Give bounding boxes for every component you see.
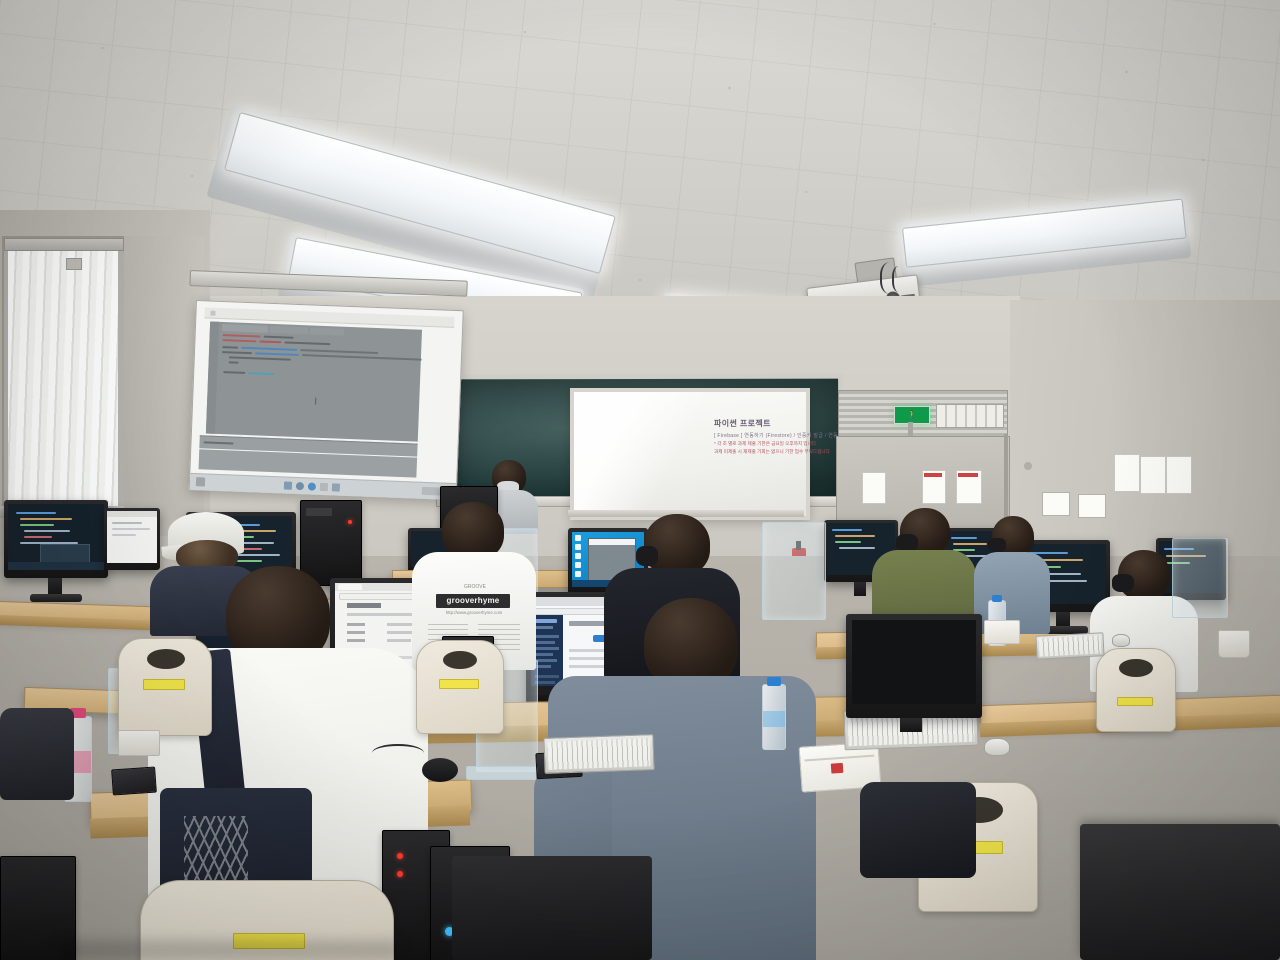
admin-nav-item[interactable] bbox=[535, 681, 555, 684]
code-line-2b bbox=[259, 340, 281, 343]
code-line-6 bbox=[229, 361, 239, 363]
water-bottle-right-cap bbox=[992, 595, 1002, 602]
smartphone-left[interactable] bbox=[111, 766, 157, 795]
vertical-blinds bbox=[8, 248, 118, 506]
student-black-mask bbox=[636, 546, 658, 566]
desktop-icon-3[interactable] bbox=[575, 553, 581, 559]
monitor-far-left-taskbar bbox=[8, 562, 104, 570]
blind-rail bbox=[4, 238, 124, 251]
monitor-left-2[interactable] bbox=[104, 508, 160, 570]
projector-cable-2 bbox=[892, 266, 908, 292]
code-line-3b bbox=[241, 347, 297, 351]
taskbar-start-icon[interactable] bbox=[196, 477, 205, 486]
door-notice-3-header bbox=[958, 473, 978, 477]
whiteboard-writing: 파이썬 프로젝트 [ Firebase ] 연동하기 (Firestore) /… bbox=[714, 418, 804, 455]
wall-certificate-1 bbox=[1042, 492, 1070, 516]
paper-bag-logo bbox=[831, 763, 844, 774]
monitor-far-left-base bbox=[30, 594, 82, 602]
admin-logo bbox=[535, 619, 557, 623]
wall-notice-2 bbox=[1140, 456, 1166, 494]
desktop-window-titlebar bbox=[589, 539, 635, 545]
backpack bbox=[0, 708, 74, 800]
door-notice-1 bbox=[862, 472, 886, 504]
browser-chrome bbox=[107, 511, 157, 517]
web-tab[interactable] bbox=[338, 584, 362, 590]
code-line-1b bbox=[264, 336, 294, 339]
tissue-box bbox=[118, 730, 160, 756]
whiteboard-line-1: [ Firebase ] 연동하기 (Firestore) / 인증키 발급 /… bbox=[714, 432, 804, 439]
web-tabs-row[interactable] bbox=[347, 613, 421, 616]
web-field-label bbox=[347, 639, 365, 642]
web-ln bbox=[112, 534, 136, 536]
admin-page-title bbox=[569, 621, 605, 626]
shirt-print-brand-text: grooverhyme bbox=[438, 596, 508, 605]
wall-notice-3 bbox=[1166, 456, 1192, 494]
mouse-right[interactable] bbox=[1112, 634, 1130, 647]
monitor-left-2-screen bbox=[107, 511, 157, 563]
desktop-icon-5[interactable] bbox=[575, 571, 581, 577]
code-ln bbox=[20, 524, 54, 526]
web-field-value bbox=[387, 639, 411, 642]
code-line-3c bbox=[300, 349, 378, 354]
monitor-foreground-center[interactable] bbox=[452, 856, 652, 960]
whiteboard-line-2: * 각 조 별로 과제 제출 기한은 금요일 오후까지 입니다 bbox=[714, 441, 804, 447]
keyboard-right-keys bbox=[1039, 635, 1102, 656]
chair-left-back[interactable] bbox=[118, 638, 212, 736]
wall-clock-mount bbox=[1024, 462, 1032, 470]
shirt-print-sub: GROOVE bbox=[452, 584, 498, 590]
admin-nav-item[interactable] bbox=[535, 675, 559, 678]
code-ln bbox=[835, 541, 861, 543]
whiteboard-line-3: 과제 미제출 시 재제출 기회는 없으니 기한 엄수 부탁드립니다 bbox=[714, 449, 804, 455]
taskbar-app-5-icon[interactable] bbox=[332, 483, 340, 491]
chair-right-tag bbox=[1117, 697, 1153, 706]
water-bottle-center[interactable] bbox=[762, 684, 786, 750]
chair-center-back[interactable] bbox=[416, 640, 504, 734]
keyboard-right[interactable] bbox=[1035, 632, 1104, 660]
code-line-7 bbox=[223, 371, 245, 374]
divider-center-front-foot bbox=[466, 766, 546, 780]
chair-left-back-tag bbox=[143, 679, 185, 690]
taskbar-app-3-icon[interactable] bbox=[308, 482, 316, 490]
shirt-print-url: http://www.grooverhyme.com bbox=[428, 610, 520, 615]
water-bottle-center-cap bbox=[767, 677, 781, 686]
code-ln bbox=[835, 535, 875, 537]
editor-tab-1[interactable] bbox=[222, 324, 268, 333]
wall-notice-1 bbox=[1114, 454, 1140, 492]
divider-right-back bbox=[762, 522, 826, 620]
web-field-value bbox=[387, 623, 415, 626]
student-blue-mask bbox=[988, 538, 1006, 552]
web-field-label bbox=[347, 631, 365, 634]
whiteboard-title: 파이썬 프로젝트 bbox=[714, 418, 804, 429]
web-ln bbox=[112, 528, 150, 530]
monitor-far-left-screen bbox=[8, 504, 104, 570]
taskbar-app-2-icon[interactable] bbox=[296, 482, 304, 490]
code-ln bbox=[839, 547, 875, 549]
console-status-text bbox=[204, 441, 234, 444]
code-line-5 bbox=[229, 356, 291, 360]
taskbar-app-1-icon[interactable] bbox=[284, 482, 292, 490]
editor-caret bbox=[315, 398, 317, 405]
desktop-icon-4[interactable] bbox=[575, 562, 581, 568]
admin-nav-item[interactable] bbox=[535, 641, 555, 644]
keyboard-center[interactable] bbox=[543, 734, 654, 774]
running-man-icon: 🚶 bbox=[907, 411, 917, 419]
code-line-3 bbox=[222, 346, 238, 349]
headphone-cable bbox=[372, 744, 424, 762]
wall-certificate-2 bbox=[1078, 494, 1106, 518]
monitor-foreground-mid-stand bbox=[900, 718, 922, 732]
pc-power-led-left bbox=[348, 520, 352, 524]
desktop-icon-2[interactable] bbox=[575, 544, 581, 550]
keyboard-center-keys bbox=[548, 738, 651, 770]
code-line-1 bbox=[223, 334, 261, 337]
code-ln bbox=[953, 543, 987, 545]
monitor-foreground-mid[interactable] bbox=[846, 614, 982, 718]
code-ln bbox=[832, 529, 862, 531]
code-line-2 bbox=[222, 339, 256, 342]
web-ln bbox=[112, 522, 142, 524]
admin-project-name bbox=[535, 626, 553, 629]
monitor-right-1-stand bbox=[854, 582, 866, 596]
chair-center-back-cutout bbox=[443, 651, 477, 669]
cup-right bbox=[1218, 630, 1250, 658]
chair-center-back-tag bbox=[439, 679, 479, 689]
monitor-foreground-mid-screen bbox=[852, 620, 976, 704]
door-notice-2-header bbox=[924, 473, 942, 477]
editor-gutter bbox=[206, 322, 219, 434]
chair-right-cutout bbox=[1119, 659, 1153, 677]
divider-far-right bbox=[1172, 538, 1228, 618]
editor-tab-2[interactable] bbox=[270, 326, 308, 334]
pc-tower-left-panel bbox=[306, 508, 332, 516]
projection-screen[interactable] bbox=[189, 300, 464, 500]
code-line-4 bbox=[222, 351, 252, 354]
projected-code-editor bbox=[206, 322, 422, 442]
code-ln bbox=[16, 512, 56, 514]
exit-sign-bracket bbox=[908, 422, 913, 436]
headphones[interactable] bbox=[422, 758, 458, 782]
admin-nav-item[interactable] bbox=[535, 647, 559, 650]
vent-panel-group bbox=[936, 404, 1004, 428]
editor-tab-3[interactable] bbox=[310, 327, 344, 335]
admin-nav-item[interactable] bbox=[535, 659, 557, 662]
code-ln bbox=[24, 530, 70, 532]
desktop-icon-1[interactable] bbox=[575, 535, 581, 541]
admin-nav-item[interactable] bbox=[535, 653, 553, 656]
code-ln bbox=[951, 537, 977, 539]
web-page-title bbox=[347, 603, 381, 608]
monitor-far-left[interactable] bbox=[4, 500, 108, 578]
projected-window-close bbox=[210, 311, 215, 316]
web-field-label bbox=[347, 623, 365, 626]
classroom-photo: 파이썬 프로젝트 [ Firebase ] 연동하기 (Firestore) /… bbox=[0, 0, 1280, 960]
code-line-7b bbox=[248, 372, 274, 375]
student-right-mask bbox=[1112, 574, 1134, 592]
chair-left-back-cutout bbox=[147, 649, 185, 669]
monitor-foreground-right[interactable] bbox=[1080, 824, 1280, 960]
whiteboard: 파이썬 프로젝트 [ Firebase ] 연동하기 (Firestore) /… bbox=[570, 388, 810, 520]
code-line-2c bbox=[284, 341, 330, 345]
taskbar-app-4-icon[interactable] bbox=[320, 483, 328, 491]
student-black-head bbox=[644, 514, 710, 576]
pc-led-center-2 bbox=[397, 871, 403, 877]
water-bottle-center-label bbox=[763, 711, 785, 727]
admin-nav-item[interactable] bbox=[535, 635, 559, 638]
floor-shadow-left bbox=[60, 940, 400, 960]
mouse-center[interactable] bbox=[984, 738, 1010, 756]
code-line-4b bbox=[255, 352, 299, 356]
code-ln bbox=[20, 518, 72, 520]
chair-right[interactable] bbox=[1096, 648, 1176, 732]
code-ln bbox=[24, 536, 52, 538]
backpack-2 bbox=[860, 782, 976, 878]
wall-outlet-left bbox=[66, 258, 82, 270]
pc-led-center-1 bbox=[397, 853, 403, 859]
paper-bag-fold bbox=[804, 755, 874, 762]
tissue-pack-right bbox=[984, 620, 1020, 644]
code-line-4c bbox=[302, 354, 422, 361]
